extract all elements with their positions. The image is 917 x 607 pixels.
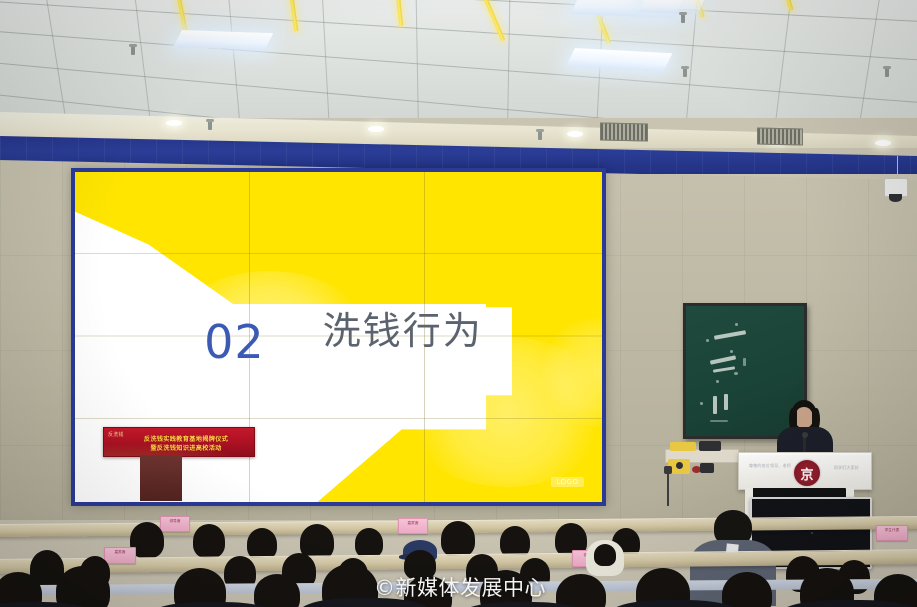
equipment-box xyxy=(676,462,683,469)
equipment-box xyxy=(700,463,714,473)
placard-label: 嘉宾席 xyxy=(105,548,135,554)
equipment-box xyxy=(699,441,721,451)
equipment-case xyxy=(670,442,696,451)
recessed-downlight xyxy=(368,126,384,132)
chalk-mark xyxy=(710,355,736,364)
desk-placard: 学生代表 xyxy=(876,525,908,541)
desk-placard: 领导席 xyxy=(160,516,190,532)
speaker-head xyxy=(795,407,813,428)
chalk-dot xyxy=(716,380,719,383)
chalk-mark xyxy=(713,396,717,414)
sprinkler-head xyxy=(683,68,687,77)
audience-head xyxy=(254,574,300,607)
lectern-top-edge xyxy=(739,453,871,455)
strip-light xyxy=(782,0,793,11)
sprinkler-head xyxy=(131,46,135,55)
strip-light xyxy=(478,0,505,41)
chalk-mark xyxy=(743,358,746,366)
audience-head xyxy=(594,544,616,566)
camera-wire xyxy=(897,156,898,178)
soffit-sprinkler xyxy=(208,121,212,130)
ceiling-panel-light xyxy=(566,48,672,71)
chalk-dot xyxy=(734,372,738,375)
placard-label: 学生代表 xyxy=(877,526,907,532)
slide-section-title: 洗钱行为 xyxy=(323,312,483,350)
audience-head xyxy=(722,572,772,607)
audience-head xyxy=(56,566,110,607)
sprinkler-head xyxy=(885,68,889,77)
camera-dome-icon xyxy=(889,194,902,202)
air-vent xyxy=(600,122,648,141)
chalk-mark xyxy=(710,420,728,422)
event-banner: 反洗钱 反洗钱实践教育基地揭牌仪式 暨反洗钱知识进高校活动 xyxy=(103,427,255,457)
recessed-downlight xyxy=(875,140,891,146)
front-podium xyxy=(140,455,182,501)
audience-head xyxy=(441,521,475,557)
chalk-dot xyxy=(730,350,733,353)
strip-light xyxy=(395,0,403,26)
recessed-downlight xyxy=(166,120,182,126)
lectern: 尊敬的各位领导、老师 同学们大家好 京 xyxy=(738,452,872,490)
ceiling xyxy=(0,0,917,118)
ceiling-panel-light xyxy=(639,0,704,14)
audience-head xyxy=(355,528,383,558)
chalk-mark xyxy=(724,394,728,410)
air-vent xyxy=(757,128,803,146)
banner-line-2: 暨反洗钱知识进高校活动 xyxy=(122,446,250,452)
institution-seal: 京 xyxy=(794,460,820,486)
recessed-downlight xyxy=(567,131,583,137)
auditorium-photo: 02 洗钱行为 LOGO 反洗钱 反洗钱实践教育基地揭牌仪式 暨反洗钱知识进高校… xyxy=(0,0,917,607)
strip-light xyxy=(288,0,298,32)
placard-label: 领导席 xyxy=(161,517,189,523)
chalk-dot xyxy=(735,323,738,326)
desk-placard: 嘉宾席 xyxy=(398,518,428,534)
sprinkler-head xyxy=(681,14,685,23)
screen-glare xyxy=(539,317,602,427)
slide-corner-logo: LOGO xyxy=(551,477,583,487)
ceiling-panel-light xyxy=(173,30,273,50)
audience-head xyxy=(193,524,225,558)
chalk-mark xyxy=(714,330,746,339)
chalk-dot xyxy=(700,402,703,405)
chalk-dot xyxy=(706,339,709,342)
banner-line-1: 反洗钱实践教育基地揭牌仪式 xyxy=(122,437,250,443)
slide-section-number: 02 xyxy=(204,319,265,365)
chalk-mark xyxy=(713,366,735,372)
photo-watermark: ©新媒体发展中心 xyxy=(374,578,546,599)
lectern-note-right: 同学们大家好 xyxy=(834,465,859,471)
placard-label: 嘉宾席 xyxy=(399,519,427,525)
lectern-note-left: 尊敬的各位领导、老师 xyxy=(749,463,791,469)
soffit-sprinkler xyxy=(538,131,542,140)
audience-head xyxy=(556,574,606,607)
